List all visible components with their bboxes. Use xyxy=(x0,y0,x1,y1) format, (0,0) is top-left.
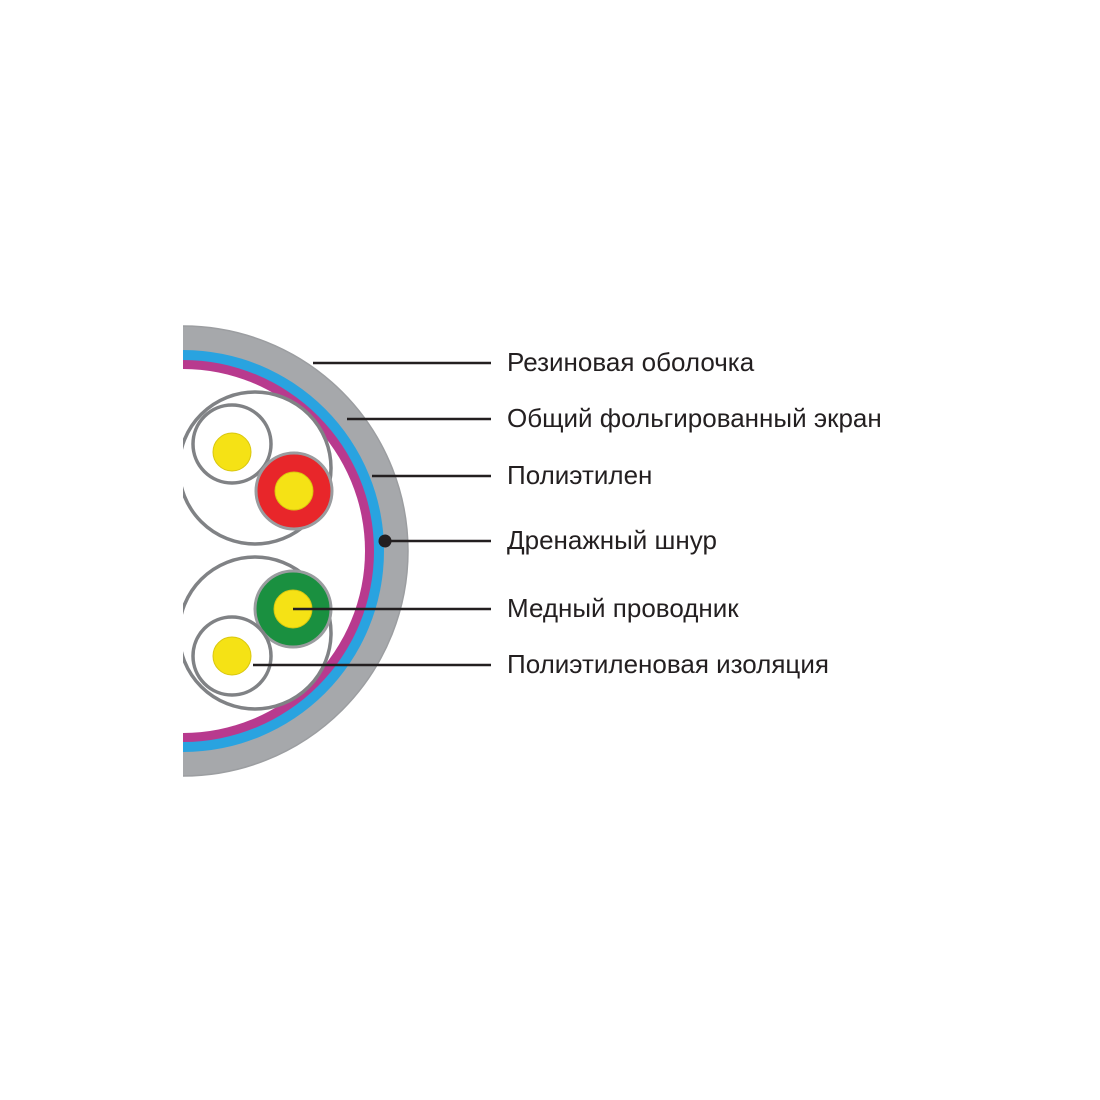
conductor-white-upper xyxy=(193,405,271,483)
callout-copper-label: Медный проводник xyxy=(507,593,739,623)
copper-core-red xyxy=(275,472,313,510)
conductor-white-lower xyxy=(193,617,271,695)
conductor-red xyxy=(256,453,332,529)
callout-foil-shield-label: Общий фольгированный экран xyxy=(507,403,882,433)
callout-rubber-sheath-label: Резиновая оболочка xyxy=(507,347,755,377)
twisted-pair-lower xyxy=(179,557,331,709)
copper-core-white-upper xyxy=(213,433,251,471)
diagram-canvas: Резиновая оболочка Общий фольгированный … xyxy=(0,0,1100,1100)
twisted-pair-upper xyxy=(179,392,332,544)
callout-pe-insulation-label: Полиэтиленовая изоляция xyxy=(507,649,829,679)
callout-drain-wire-label: Дренажный шнур xyxy=(507,525,717,555)
cable-body xyxy=(0,326,408,776)
callout-polyethylene-label: Полиэтилен xyxy=(507,460,652,490)
copper-core-white-lower xyxy=(213,637,251,675)
callout-labels: Резиновая оболочка Общий фольгированный … xyxy=(507,347,882,679)
cable-cross-section-diagram: Резиновая оболочка Общий фольгированный … xyxy=(0,0,1100,1100)
